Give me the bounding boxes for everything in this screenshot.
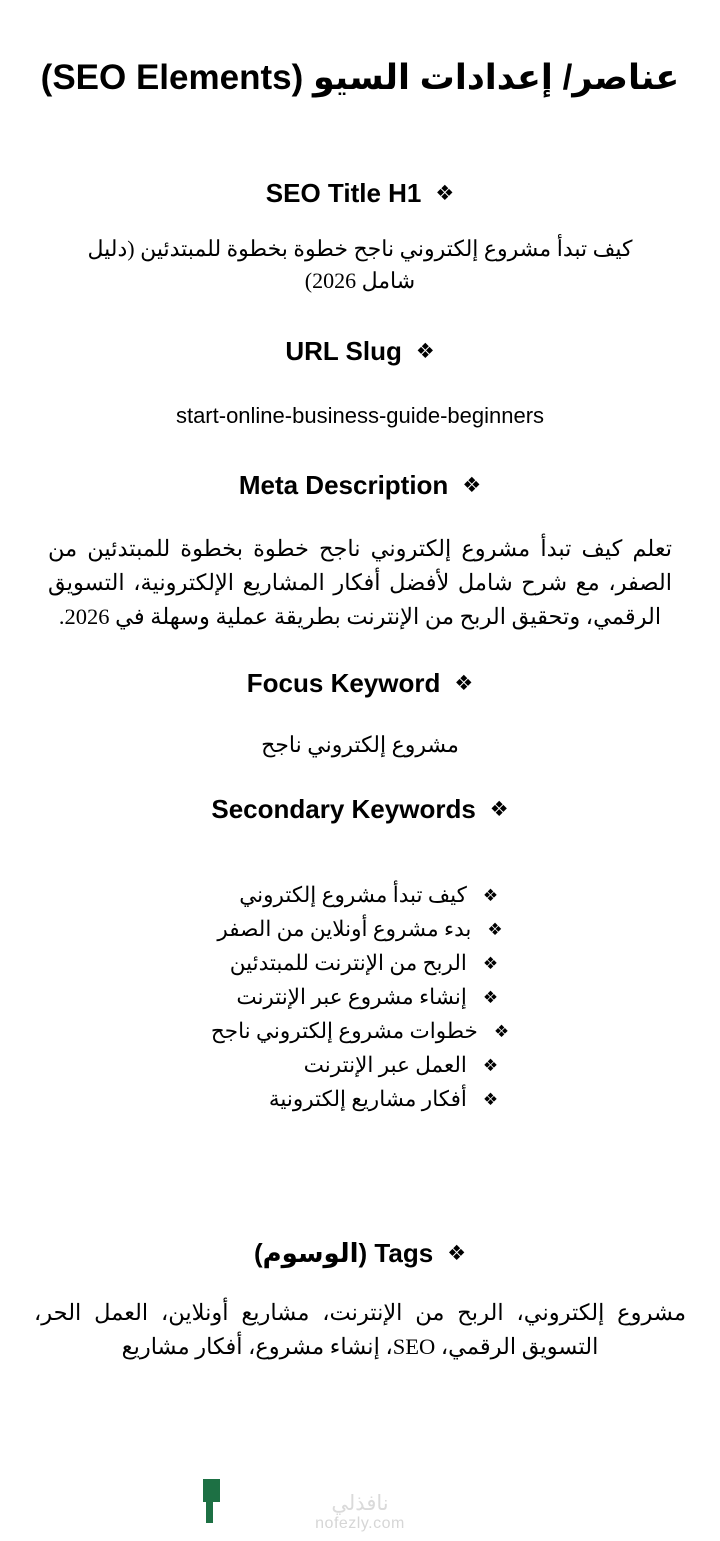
watermark-domain: nofezly.com [0,1514,720,1533]
diamond-bullet-icon: ❖ [487,917,502,944]
focus-keyword-value: مشروع إلكتروني ناجح [26,729,694,761]
list-item: ❖كيف تبدأ مشروع إلكتروني [26,879,694,913]
url-slug-value: start-online-business-guide-beginners [26,400,694,432]
section-heading-label: Secondary Keywords [211,793,475,826]
list-item-label: إنشاء مشروع عبر الإنترنت [222,981,467,1015]
section-heading-url-slug: ❖URL Slug [26,335,694,368]
seo-elements-document: عناصر/ إعدادات السيو (SEO Elements) ❖SEO… [0,0,720,1541]
section-url-slug: ❖URL Slug start-online-business-guide-be… [26,335,694,431]
spacer [26,297,694,335]
section-meta-description: ❖Meta Description تعلم كيف تبدأ مشروع إل… [26,469,694,634]
section-seo-title: ❖SEO Title H1 كيف تبدأ مشروع إلكتروني نا… [26,177,694,297]
list-item: ❖أفكار مشاريع إلكترونية [26,1083,694,1117]
list-item: ❖إنشاء مشروع عبر الإنترنت [26,981,694,1015]
list-item: ❖بدء مشروع أونلاين من الصفر [26,913,694,947]
watermark-logo: نافذلي [0,1493,720,1514]
diamond-bullet-icon: ❖ [483,883,498,910]
spacer [26,1270,694,1296]
list-item-label: الربح من الإنترنت للمبتدئين [222,947,467,981]
spacer [26,1117,694,1237]
list-item-label: بدء مشروع أونلاين من الصفر [217,913,471,947]
section-heading-label: Tags (الوسوم) [254,1237,433,1270]
list-item-label: كيف تبدأ مشروع إلكتروني [222,879,467,913]
diamond-bullet-icon: ❖ [483,951,498,978]
diamond-bullet-icon: ❖ [454,671,473,695]
section-heading-tags: ❖Tags (الوسوم) [26,1237,694,1270]
section-heading-label: URL Slug [285,335,402,368]
diamond-bullet-icon: ❖ [490,797,509,821]
section-secondary-keywords: ❖Secondary Keywords ❖كيف تبدأ مشروع إلكت… [26,793,694,1117]
section-heading-focus-keyword: ❖Focus Keyword [26,667,694,700]
diamond-bullet-icon: ❖ [447,1241,466,1265]
section-heading-seo-title: ❖SEO Title H1 [26,177,694,210]
spacer [26,101,694,177]
list-item-label: خطوات مشروع إلكتروني ناجح [211,1015,478,1049]
spacer [26,635,694,667]
caret-head [203,1479,220,1502]
secondary-keywords-list: ❖كيف تبدأ مشروع إلكتروني ❖بدء مشروع أونل… [26,879,694,1117]
list-item-label: أفكار مشاريع إلكترونية [222,1083,467,1117]
spacer [26,368,694,400]
spacer [26,761,694,793]
section-tags: ❖Tags (الوسوم) مشروع إلكتروني، الربح من … [26,1237,694,1364]
spacer [26,431,694,469]
diamond-bullet-icon: ❖ [462,473,481,497]
spacer [26,825,694,879]
section-heading-label: Meta Description [239,469,449,502]
section-heading-label: SEO Title H1 [266,177,422,210]
list-item: ❖الربح من الإنترنت للمبتدئين [26,947,694,981]
spacer [26,209,694,233]
spacer [26,502,694,532]
page-title: عناصر/ إعدادات السيو (SEO Elements) [26,0,694,101]
diamond-bullet-icon: ❖ [483,985,498,1012]
list-item: ❖خطوات مشروع إلكتروني ناجح [26,1015,694,1049]
section-heading-label: Focus Keyword [247,667,441,700]
diamond-bullet-icon: ❖ [483,1053,498,1080]
section-heading-meta-description: ❖Meta Description [26,469,694,502]
meta-description-value: تعلم كيف تبدأ مشروع إلكتروني ناجح خطوة ب… [26,532,694,635]
diamond-bullet-icon: ❖ [483,1087,498,1114]
watermark: نافذلي nofezly.com [0,1493,720,1533]
list-item: ❖العمل عبر الإنترنت [26,1049,694,1083]
section-focus-keyword: ❖Focus Keyword مشروع إلكتروني ناجح [26,667,694,761]
list-item-label: العمل عبر الإنترنت [222,1049,467,1083]
caret-stem [206,1501,213,1523]
diamond-bullet-icon: ❖ [435,181,454,205]
tags-value: مشروع إلكتروني، الربح من الإنترنت، مشاري… [26,1296,694,1364]
diamond-bullet-icon: ❖ [416,339,435,363]
diamond-bullet-icon: ❖ [494,1019,509,1046]
section-heading-secondary-keywords: ❖Secondary Keywords [26,793,694,826]
seo-title-value: كيف تبدأ مشروع إلكتروني ناجح خطوة بخطوة … [26,233,694,297]
spacer [26,699,694,729]
